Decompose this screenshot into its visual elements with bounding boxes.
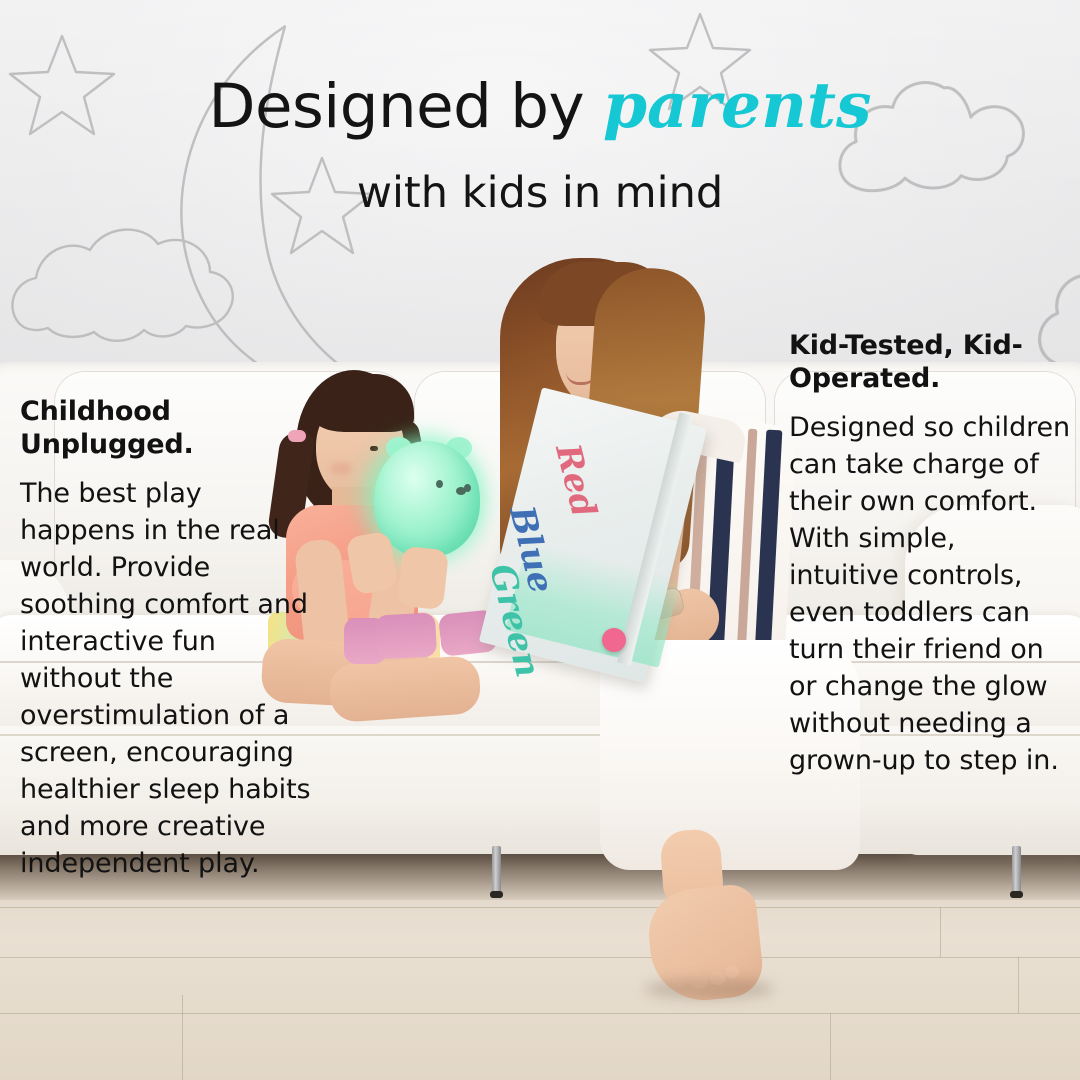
feature-column-left: Childhood Unplugged. The best play happe… <box>20 396 320 883</box>
headline-accent: parents <box>603 68 872 142</box>
feature-left-body: The best play happens in the real world.… <box>20 476 320 883</box>
subheadline: with kids in mind <box>0 168 1080 218</box>
feature-right-heading: Kid-Tested, Kid-Operated. <box>789 330 1073 396</box>
feature-column-right: Kid-Tested, Kid-Operated. Designed so ch… <box>789 330 1073 780</box>
feature-right-body: Designed so children can take charge of … <box>789 410 1073 780</box>
headline-plain: Designed by <box>209 71 603 142</box>
feature-left-heading: Childhood Unplugged. <box>20 396 320 462</box>
headline: Designed by parents <box>0 74 1080 137</box>
poster-canvas: Red Blue Green Designed by parents with … <box>0 0 1080 1080</box>
child-hand-right <box>397 546 449 610</box>
